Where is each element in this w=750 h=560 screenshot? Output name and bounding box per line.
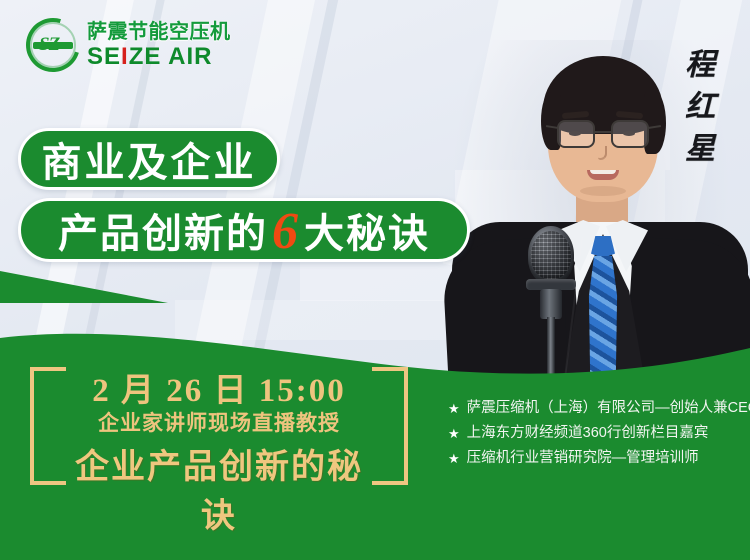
- list-item: ★ 上海东方财经频道360行创新栏目嘉宾: [448, 421, 740, 446]
- credential-text: 上海东方财经频道360行创新栏目嘉宾: [467, 421, 709, 446]
- logo-en-part1: SE: [87, 43, 121, 70]
- event-info-block: 2 月 26 日 15:00 企业家讲师现场直播教授 企业产品创新的秘诀: [30, 363, 408, 491]
- headline-pill-2: 产品创新的6大秘诀: [18, 198, 470, 262]
- glasses-lens-right: [611, 120, 649, 148]
- star-icon: ★: [448, 396, 460, 421]
- logo-english-name: SEIZE AIR: [87, 45, 231, 69]
- bracket-right: [372, 367, 408, 485]
- microphone-body: [540, 289, 562, 319]
- logo-monogram: SZ: [39, 35, 59, 54]
- speaker-name-vertical: 程红星: [672, 48, 718, 174]
- promo-poster: SZ 萨震节能空压机 SEIZE AIR 程红星 商业及企业 产品创新的6大秘诀…: [0, 0, 750, 560]
- headline-line-2-after: 大秘诀: [304, 201, 430, 259]
- glasses-lens-left: [557, 120, 595, 148]
- microphone-grill: [531, 231, 571, 279]
- credential-text: 压缩机行业营销研究院—管理培训师: [467, 446, 699, 471]
- glasses-bridge: [595, 131, 611, 133]
- logo-en-part2: ZE AIR: [129, 43, 213, 70]
- event-datetime: 2 月 26 日 15:00: [74, 363, 364, 411]
- headline-number-6: 6: [268, 206, 304, 258]
- speaker-chin-shadow: [580, 186, 626, 196]
- event-topic: 企业产品创新的秘诀: [74, 439, 364, 537]
- credential-text: 萨震压缩机（上海）有限公司—创始人兼CEO: [467, 396, 750, 421]
- background-stripe: [245, 0, 355, 392]
- list-item: ★ 压缩机行业营销研究院—管理培训师: [448, 446, 740, 471]
- star-icon: ★: [448, 446, 460, 471]
- bracket-left: [30, 367, 66, 485]
- list-item: ★ 萨震压缩机（上海）有限公司—创始人兼CEO: [448, 396, 740, 421]
- brand-logo[interactable]: SZ 萨震节能空压机 SEIZE AIR: [26, 18, 231, 72]
- credentials-list: ★ 萨震压缩机（上海）有限公司—创始人兼CEO ★ 上海东方财经频道360行创新…: [448, 396, 740, 471]
- logo-en-red-i: I: [121, 43, 129, 70]
- necktie-knot: [591, 236, 615, 258]
- headline-pill-1: 商业及企业: [18, 128, 280, 190]
- logo-wordmark: 萨震节能空压机 SEIZE AIR: [87, 22, 231, 69]
- star-icon: ★: [448, 421, 460, 446]
- event-subtitle: 企业家讲师现场直播教授: [74, 407, 364, 437]
- logo-chinese-name: 萨震节能空压机: [87, 22, 231, 42]
- headline-line-2-before: 产品创新的: [58, 201, 268, 259]
- seize-air-logo-icon: SZ: [26, 18, 80, 72]
- headline-line-1: 商业及企业: [42, 130, 257, 188]
- speaker-teeth: [590, 170, 616, 174]
